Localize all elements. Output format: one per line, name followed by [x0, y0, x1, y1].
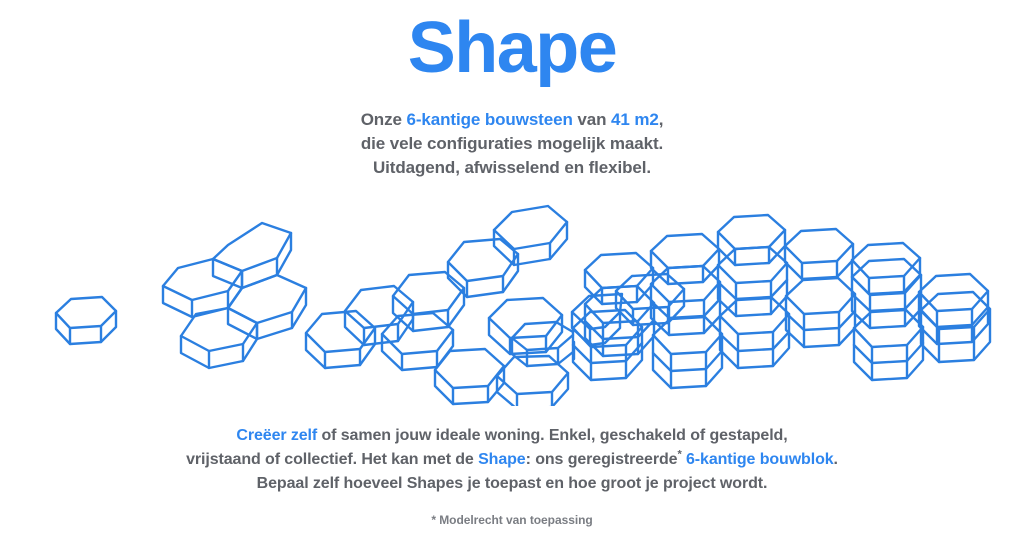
shape-illustration	[0, 196, 1024, 406]
shape-group-organic-cluster	[306, 206, 568, 406]
closing-accent-shape: Shape	[478, 451, 526, 468]
shape-group-small-cluster	[163, 223, 306, 368]
closing-accent-creeer: Creëer zelf	[236, 427, 317, 444]
intro-line-3: Uitdagend, afwisselend en flexibel.	[0, 156, 1024, 180]
closing-line2-part1: vrijstaand of collectief. Het kan met de	[186, 451, 478, 468]
footnote-text: * Modelrecht van toepassing	[0, 512, 1024, 528]
closing-line2-part2: : ons geregistreerde	[526, 451, 678, 468]
closing-line1-rest: of samen jouw ideale woning. Enkel, gesc…	[317, 427, 787, 444]
intro-accent-area: 41 m2	[611, 110, 659, 129]
intro-line1-part1: Onze	[361, 110, 407, 129]
closing-line-3: Bepaal zelf hoeveel Shapes je toepast en…	[0, 472, 1024, 496]
intro-paragraph: Onze 6-kantige bouwsteen van 41 m2, die …	[0, 108, 1024, 180]
shape-group-single-block	[56, 297, 116, 344]
intro-line-2: die vele configuraties mogelijk maakt.	[0, 132, 1024, 156]
intro-line1-part2: van	[573, 110, 611, 129]
closing-line-1: Creëer zelf of samen jouw ideale woning.…	[0, 424, 1024, 448]
page-title: Shape	[0, 8, 1024, 88]
closing-paragraph: Creëer zelf of samen jouw ideale woning.…	[0, 424, 1024, 496]
intro-accent-bouwsteen: 6-kantige bouwsteen	[406, 110, 572, 129]
intro-line1-part3: ,	[659, 110, 664, 129]
intro-line-1: Onze 6-kantige bouwsteen van 41 m2,	[0, 108, 1024, 132]
shape-group-stacked-cluster	[512, 215, 990, 388]
closing-accent-bouwblok: 6-kantige bouwblok	[682, 451, 834, 468]
closing-line2-part3: .	[834, 451, 838, 468]
closing-line-2: vrijstaand of collectief. Het kan met de…	[0, 448, 1024, 472]
shape-landing-page: Shape Onze 6-kantige bouwsteen van 41 m2…	[0, 0, 1024, 538]
